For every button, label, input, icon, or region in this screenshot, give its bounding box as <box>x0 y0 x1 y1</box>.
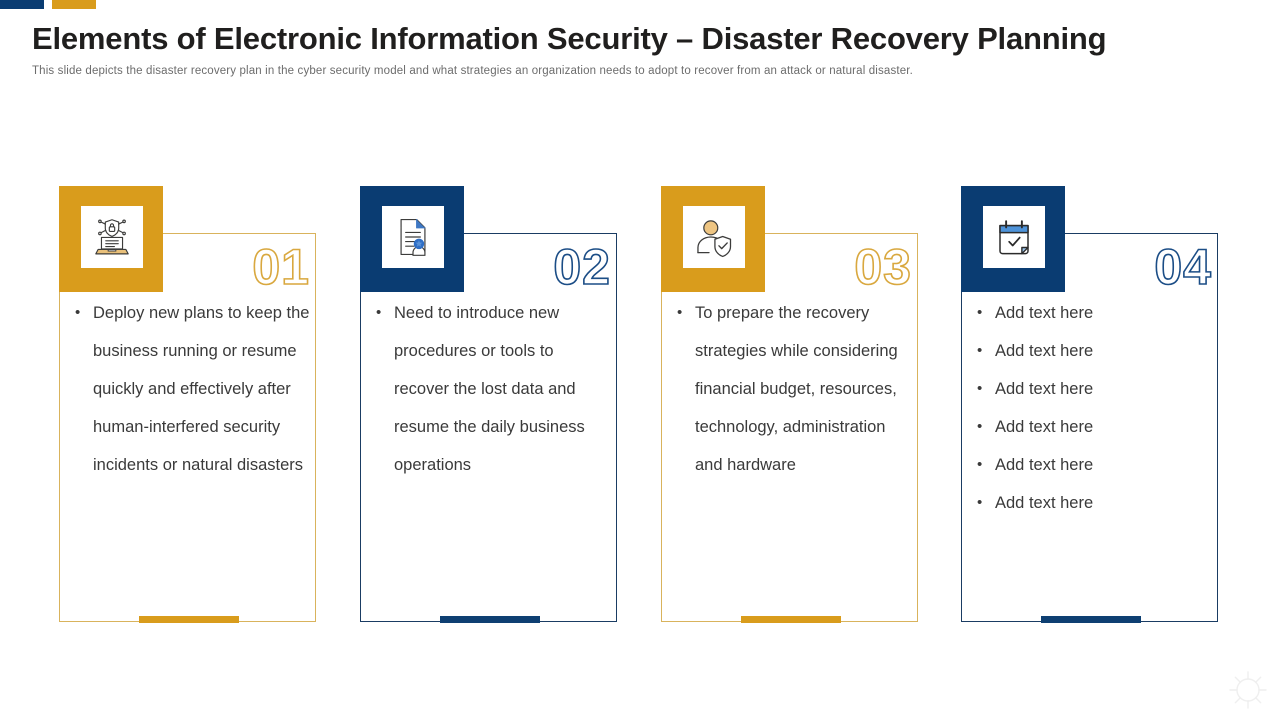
card-04-bullets: Add text here Add text here Add text her… <box>975 294 1213 522</box>
list-item: Add text here <box>975 408 1213 446</box>
page-title: Elements of Electronic Information Secur… <box>32 22 1248 56</box>
calendar-check-icon <box>983 206 1045 268</box>
laptop-shield-lock-icon <box>81 206 143 268</box>
list-item: Add text here <box>975 484 1213 522</box>
navy-bar <box>0 0 44 9</box>
top-decorative-bars <box>0 0 1280 9</box>
card-03[interactable]: 03 To prepare the recovery strategies wh… <box>661 186 920 630</box>
card-04-accent-bar <box>1041 616 1141 623</box>
list-item: Need to introduce new procedures or tool… <box>374 294 612 484</box>
card-04[interactable]: 04 Add text here Add text here Add text … <box>961 186 1220 630</box>
card-01[interactable]: 01 Deploy new plans to keep the business… <box>59 186 318 630</box>
card-03-number: 03 <box>854 242 912 292</box>
card-03-icon-tile <box>661 186 765 292</box>
person-shield-check-icon <box>683 206 745 268</box>
card-02-bullets: Need to introduce new procedures or tool… <box>374 294 612 484</box>
page-subtitle: This slide depicts the disaster recovery… <box>32 65 1248 77</box>
list-item: To prepare the recovery strategies while… <box>675 294 913 484</box>
list-item: Deploy new plans to keep the business ru… <box>73 294 311 484</box>
card-02-icon-tile <box>360 186 464 292</box>
card-01-number: 01 <box>252 242 310 292</box>
gold-bar <box>52 0 96 9</box>
card-03-bullets: To prepare the recovery strategies while… <box>675 294 913 484</box>
slide-header: Elements of Electronic Information Secur… <box>32 22 1248 77</box>
card-02-number: 02 <box>553 242 611 292</box>
list-item: Add text here <box>975 332 1213 370</box>
card-03-accent-bar <box>741 616 841 623</box>
card-01-bullets: Deploy new plans to keep the business ru… <box>73 294 311 484</box>
list-item: Add text here <box>975 446 1213 484</box>
list-item: Add text here <box>975 294 1213 332</box>
gear-watermark-icon <box>1226 668 1270 712</box>
cards-row: 01 Deploy new plans to keep the business… <box>0 186 1280 646</box>
list-item: Add text here <box>975 370 1213 408</box>
card-01-accent-bar <box>139 616 239 623</box>
card-04-icon-tile <box>961 186 1065 292</box>
card-02[interactable]: 02 Need to introduce new procedures or t… <box>360 186 619 630</box>
card-02-accent-bar <box>440 616 540 623</box>
card-01-icon-tile <box>59 186 163 292</box>
document-certificate-seal-icon <box>382 206 444 268</box>
card-04-number: 04 <box>1154 242 1212 292</box>
